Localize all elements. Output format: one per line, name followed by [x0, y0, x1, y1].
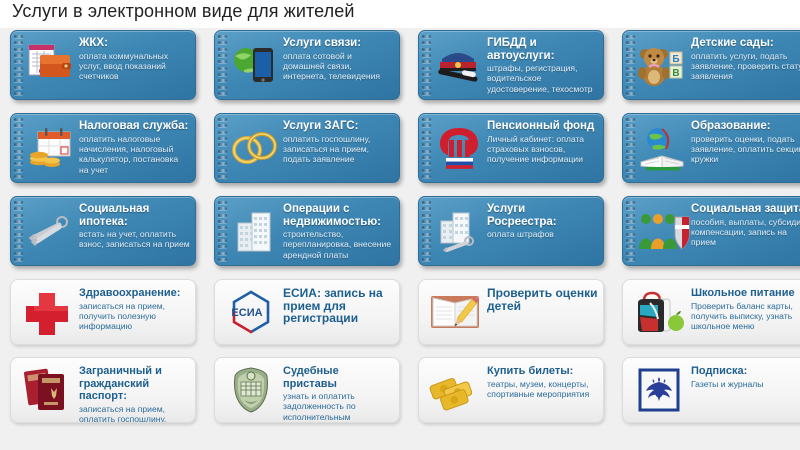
card-description: оплатить услуги, подать заявление, прове… [691, 51, 800, 82]
spiral-binding-icon [14, 201, 23, 261]
card-heading: Социальная защита: [691, 203, 800, 216]
service-card-obrazovanie[interactable]: Образование: проверить оценки, подать за… [622, 113, 800, 183]
russian-post-eagle-icon [631, 364, 687, 416]
spiral-binding-icon [218, 118, 227, 178]
card-heading: Подписка: [691, 365, 800, 378]
spiral-binding-icon [14, 35, 23, 95]
building-keys-icon [434, 206, 484, 256]
spiral-binding-icon [422, 201, 431, 261]
card-heading: Школьное питание [691, 287, 800, 300]
services-grid: ЖКХ: оплата коммунальных услуг, ввод пок… [0, 30, 800, 435]
service-card-zhkh[interactable]: ЖКХ: оплата коммунальных услуг, ввод пок… [10, 30, 196, 100]
buildings-icon [230, 206, 280, 256]
pension-fund-logo-icon [434, 123, 484, 173]
card-description: строительство, перепланировка, внесение … [283, 229, 394, 260]
card-description: оплата коммунальных услуг, ввод показани… [79, 51, 190, 82]
card-heading: Проверить оценки детей [487, 287, 599, 312]
service-card-podpiska[interactable]: Подписка: Газеты и журналы [622, 357, 800, 423]
card-heading: Пенсионный фонд [487, 120, 598, 133]
tickets-icon [427, 364, 483, 416]
backpack-apple-icon [631, 286, 687, 338]
blue-row-1: ЖКХ: оплата коммунальных услуг, ввод пок… [0, 30, 800, 113]
spiral-binding-icon [422, 118, 431, 178]
teddy-bear-blocks-icon: Б В [638, 40, 688, 90]
card-description: записаться на прием, оплатить госпошлину… [79, 404, 191, 424]
card-description: штрафы, регистрация, водительское удосто… [487, 63, 598, 94]
blue-row-3: Социальная ипотека: встать на учет, опла… [0, 196, 800, 279]
card-heading: Судебные приставы [283, 365, 395, 390]
people-shield-icon [638, 206, 688, 256]
card-description: оплата штрафов [487, 229, 598, 239]
blue-row-2: Налоговая служба: оплатить налоговые нач… [0, 113, 800, 196]
svg-text:В: В [672, 68, 679, 79]
card-description: Личный кабинет: оплата страховых взносов… [487, 134, 598, 165]
card-heading: ГИБДД и автоуслуги: [487, 37, 598, 62]
card-heading: Здравоохранение: [79, 287, 191, 300]
service-card-socialnaya-ipoteka[interactable]: Социальная ипотека: встать на учет, опла… [10, 196, 196, 266]
card-description: пособия, выплаты, субсидии, компенсации,… [691, 217, 800, 248]
esia-hexagon-logo-icon: ЕСИА [223, 286, 279, 338]
service-card-pensionnyi-fond[interactable]: Пенсионный фонд Личный кабинет: оплата с… [418, 113, 604, 183]
service-card-nedvizhimost[interactable]: Операции с недвижимостью: строительство,… [214, 196, 400, 266]
service-card-pasport[interactable]: Заграничный и гражданский паспорт: запис… [10, 357, 196, 423]
spiral-binding-icon [218, 201, 227, 261]
card-description: записаться на прием, получить полезную и… [79, 301, 191, 332]
notebook-pencil-icon [427, 286, 483, 338]
card-heading: Купить билеты: [487, 365, 599, 378]
spiral-binding-icon [626, 35, 635, 95]
card-heading: ЖКХ: [79, 37, 190, 50]
wedding-rings-icon [230, 123, 280, 173]
card-description: проверить оценки, подать заявление, опла… [691, 134, 800, 165]
smartphone-globe-icon [230, 40, 280, 90]
card-heading: Налоговая служба: [79, 120, 190, 133]
spiral-binding-icon [14, 118, 23, 178]
page-root: Услуги в электронном виде для жителей [0, 0, 800, 450]
card-description: узнать и оплатить задолженность по испол… [283, 391, 395, 423]
white-row-1: Здравоохранение: записаться на прием, по… [0, 279, 800, 357]
white-row-2: Заграничный и гражданский паспорт: запис… [0, 357, 800, 435]
service-card-zags[interactable]: Услуги ЗАГС: оплатить госпошлину, записа… [214, 113, 400, 183]
card-heading: Операции с недвижимостью: [283, 203, 394, 228]
bailiffs-emblem-icon [223, 364, 279, 416]
card-heading: Услуги Росреестра: [487, 203, 598, 228]
card-heading: Услуги связи: [283, 37, 394, 50]
passports-icon [19, 364, 75, 416]
card-heading: Детские сады: [691, 37, 800, 50]
esia-logo-text: ЕСИА [231, 307, 262, 319]
card-description: Проверить баланс карты, получить выписку… [691, 301, 800, 332]
card-description: оплатить госпошлину, записаться на прием… [283, 134, 394, 165]
red-cross-icon [19, 286, 75, 338]
service-card-socialnaya-zashchita[interactable]: Социальная защита: пособия, выплаты, суб… [622, 196, 800, 266]
spiral-binding-icon [422, 35, 431, 95]
service-card-gibdd[interactable]: ГИБДД и автоуслуги: штрафы, регистрация,… [418, 30, 604, 100]
keys-icon [26, 206, 76, 256]
svg-text:Б: Б [672, 54, 679, 65]
service-card-proverit-ocenki[interactable]: Проверить оценки детей [418, 279, 604, 345]
globe-books-icon [638, 123, 688, 173]
card-heading: ЕСИА: запись на прием для регистрации [283, 287, 395, 325]
service-card-shkolnoe-pitanie[interactable]: Школьное питание Проверить баланс карты,… [622, 279, 800, 345]
service-card-esia[interactable]: ЕСИА ЕСИА: запись на прием для регистрац… [214, 279, 400, 345]
utility-bill-wallet-icon [26, 40, 76, 90]
service-card-zdravoohranenie[interactable]: Здравоохранение: записаться на прием, по… [10, 279, 196, 345]
service-card-svyaz[interactable]: Услуги связи: оплата сотовой и домашней … [214, 30, 400, 100]
page-title: Услуги в электронном виде для жителей [12, 1, 355, 22]
spiral-binding-icon [626, 118, 635, 178]
police-cap-baton-icon [434, 40, 484, 90]
service-card-kupit-bilety[interactable]: Купить билеты: театры, музеи, концерты, … [418, 357, 604, 423]
card-description: оплатить налоговые начисления, налоговый… [79, 134, 190, 176]
spiral-binding-icon [218, 35, 227, 95]
card-description: встать на учет, оплатить взнос, записать… [79, 229, 190, 250]
service-card-rosreestr[interactable]: Услуги Росреестра: оплата штрафов [418, 196, 604, 266]
service-card-sudebnye-pristavy[interactable]: Судебные приставы узнать и оплатить задо… [214, 357, 400, 423]
card-heading: Образование: [691, 120, 800, 133]
card-heading: Заграничный и гражданский паспорт: [79, 365, 191, 403]
service-card-nalogovaya[interactable]: Налоговая служба: оплатить налоговые нач… [10, 113, 196, 183]
spiral-binding-icon [626, 201, 635, 261]
card-description: Газеты и журналы [691, 379, 800, 389]
service-card-detsady[interactable]: Б В Детские сады: оплатить услуги, подат… [622, 30, 800, 100]
card-description: оплата сотовой и домашней связи, интерне… [283, 51, 394, 82]
card-description: театры, музеи, концерты, спортивные меро… [487, 379, 599, 400]
card-heading: Услуги ЗАГС: [283, 120, 394, 133]
card-heading: Социальная ипотека: [79, 203, 190, 228]
calendar-coins-icon [26, 123, 76, 173]
